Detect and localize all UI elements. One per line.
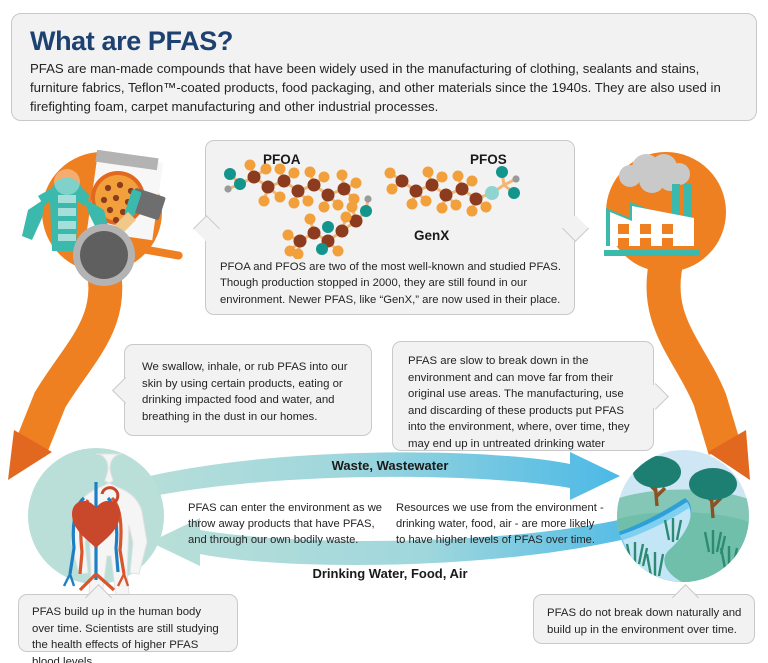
body-buildup-text: PFAS build up in the human body over tim… bbox=[32, 604, 225, 663]
header-description: PFAS are man-made compounds that have be… bbox=[30, 60, 740, 116]
drinking-water-label: Drinking Water, Food, Air bbox=[220, 566, 560, 581]
header-panel: What are PFAS? PFAS are man-made compoun… bbox=[11, 13, 757, 121]
nature-circle bbox=[613, 448, 759, 596]
cycle-left-text: PFAS can enter the environment as we thr… bbox=[188, 500, 383, 549]
exposure-callout: We swallow, inhale, or rub PFAS into our… bbox=[124, 344, 372, 436]
infographic-root: What are PFAS? PFAS are man-made compoun… bbox=[0, 0, 768, 663]
cycle-right-text: Resources we use from the environment - … bbox=[396, 500, 606, 549]
human-body-circle bbox=[18, 448, 178, 600]
env-buildup-callout: PFAS do not break down naturally and bui… bbox=[533, 594, 755, 644]
persistence-callout: PFAS are slow to break down in the envir… bbox=[392, 341, 654, 451]
env-buildup-text: PFAS do not break down naturally and bui… bbox=[547, 605, 742, 638]
exposure-callout-text: We swallow, inhale, or rub PFAS into our… bbox=[142, 359, 356, 425]
pfas-molecule-diagrams bbox=[206, 141, 576, 259]
orange-arrow-body-right bbox=[663, 255, 725, 450]
waste-wastewater-label: Waste, Wastewater bbox=[230, 458, 550, 473]
products-to-body-arrow-group bbox=[0, 150, 210, 490]
body-buildup-callout: PFAS build up in the human body over tim… bbox=[18, 594, 238, 652]
page-title: What are PFAS? bbox=[30, 27, 740, 55]
molecule-panel: PFOA PFOS GenX bbox=[205, 140, 575, 315]
molecule-panel-caption: PFOA and PFOS are two of the most well-k… bbox=[220, 259, 564, 308]
